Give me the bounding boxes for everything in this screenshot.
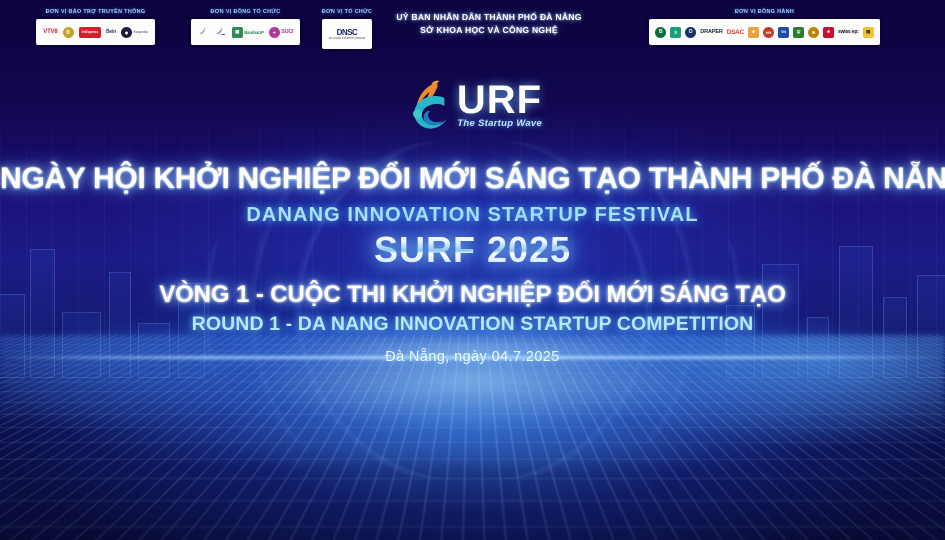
sponsor-logo-plate-coorganizer: ▦ BambuUP ✦ SUCI: [191, 19, 301, 45]
vietnam-flag-logo: ★: [823, 27, 834, 38]
surf-tagline: The Startup Wave: [457, 118, 542, 129]
sponsor-group-media: ĐƠN VỊ BẢO TRỢ TRUYỀN THÔNG VTV8 ◎ VnExp…: [8, 0, 183, 45]
dnes-logo: D: [685, 27, 696, 38]
title-round-english: ROUND 1 - DA NANG INNOVATION STARTUP COM…: [0, 311, 945, 337]
hoidoanhnhan-logo: VN: [778, 27, 789, 38]
sponsor-logo-plate-media: VTV8 ◎ VnExpress Bein ◉ Ecopedia: [36, 19, 154, 45]
bidv-logo: B: [655, 27, 666, 38]
sponsor-group-coorganizer-title: ĐƠN VỊ ĐỒNG TỔ CHỨC: [211, 9, 281, 15]
vccidn-logo: ★: [748, 27, 759, 38]
dsac-logo: DSAC: [727, 29, 744, 36]
government-line-1: UỶ BAN NHÂN DÂN THÀNH PHỐ ĐÀ NẴNG: [396, 11, 581, 24]
vov-logo: ◎: [63, 27, 74, 38]
bein-media-logo: Bein: [106, 29, 116, 35]
ecopedia-logo: ◉ Ecopedia: [121, 27, 148, 38]
sponsor-group-media-title: ĐƠN VỊ BẢO TRỢ TRUYỀN THÔNG: [46, 9, 146, 15]
title-main-english: DANANG INNOVATION STARTUP FESTIVAL: [0, 200, 945, 230]
surf-wave-bird-icon: [403, 78, 461, 134]
event-poster: ĐƠN VỊ BẢO TRỢ TRUYỀN THÔNG VTV8 ◎ VnExp…: [0, 0, 945, 540]
sgroup-logo: S: [670, 27, 681, 38]
government-authority: UỶ BAN NHÂN DÂN THÀNH PHỐ ĐÀ NẴNG SỞ KHO…: [386, 0, 592, 37]
yellow-partner-logo: ▤: [863, 27, 874, 38]
surf-logo: URF The Startup Wave: [403, 78, 542, 134]
sponsor-logo-plate-organizer: DNSC ĐÀ NẴNG STARTUP CENTER: [322, 19, 372, 49]
title-block: NGÀY HỘI KHỞI NGHIỆP ĐỔI MỚI SÁNG TẠO TH…: [0, 160, 945, 368]
vtv8-logo: VTV8: [43, 29, 57, 35]
sponsor-group-organizer: ĐƠN VỊ TỔ CHỨC DNSC ĐÀ NẴNG STARTUP CENT…: [308, 0, 386, 49]
sponsor-group-partner: ĐƠN VỊ ĐỒNG HÀNH B S D DRAPER DSAC ★ HH …: [592, 0, 937, 45]
dnsc-logo: DNSC ĐÀ NẴNG STARTUP CENTER: [329, 28, 365, 40]
sponsor-group-coorganizer: ĐƠN VỊ ĐỒNG TỔ CHỨC ▦ BambuUP: [183, 0, 308, 45]
swiss-ep-logo: swiss ep:: [838, 29, 859, 35]
hiephoi-logo: HH: [763, 27, 774, 38]
event-date: Đà Nẵng, ngày 04.7.2025: [0, 346, 945, 368]
sponsor-bar: ĐƠN VỊ BẢO TRỢ TRUYỀN THÔNG VTV8 ◎ VnExp…: [0, 0, 945, 82]
sponsor-group-partner-title: ĐƠN VỊ ĐỒNG HÀNH: [735, 9, 794, 15]
sponsor-logo-plate-partner: B S D DRAPER DSAC ★ HH VN ⛨ ✹ ★ swiss ep…: [649, 19, 879, 45]
title-edition: SURF 2025: [0, 229, 945, 271]
sponsor-group-organizer-title: ĐƠN VỊ TỔ CHỨC: [322, 9, 373, 15]
vnexpress-logo: VnExpress: [79, 27, 101, 38]
draper-logo: DRAPER: [700, 29, 722, 35]
suci-logo: ✦ SUCI: [269, 27, 294, 38]
bambuup-logo: ▦ BambuUP: [232, 27, 264, 38]
shield-logo: ⛨: [793, 27, 804, 38]
government-line-2: SỞ KHOA HỌC VÀ CÔNG NGHỆ: [396, 24, 581, 37]
title-round-vietnamese: VÒNG 1 - CUỘC THI KHỞI NGHIỆP ĐỔI MỚI SÁ…: [0, 279, 945, 311]
title-main-vietnamese: NGÀY HỘI KHỞI NGHIỆP ĐỔI MỚI SÁNG TẠO TH…: [0, 160, 945, 198]
bamboo-airways-bird-logo: [215, 23, 227, 41]
surf-wordmark: URF The Startup Wave: [457, 83, 542, 129]
medal-logo: ✹: [808, 27, 819, 38]
surf-wordmark-text: URF: [457, 83, 542, 117]
vietnam-airlines-logo: [198, 23, 210, 41]
